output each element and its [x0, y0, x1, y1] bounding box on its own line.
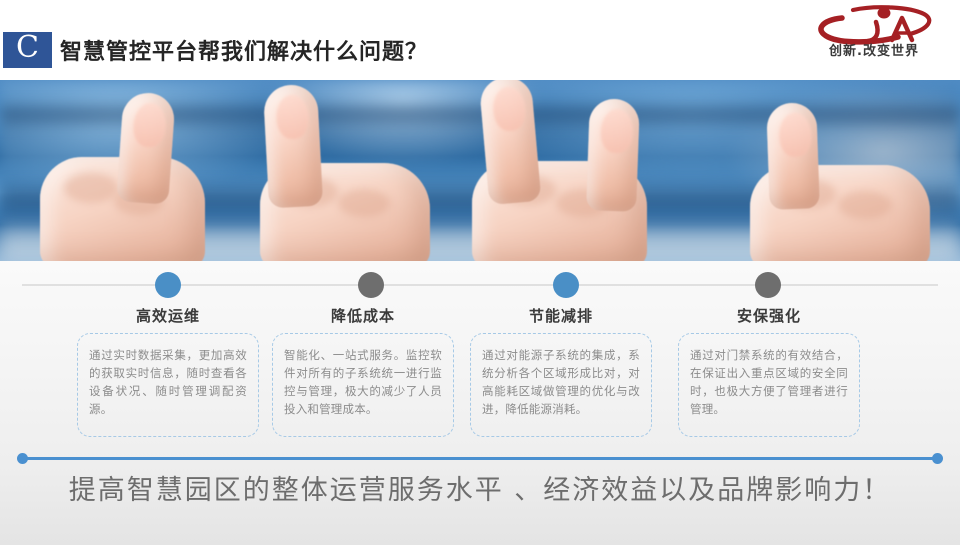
feature-card-2-body: 智能化、一站式服务。监控软件对所有的子系统统一进行监控与管理，极大的减少了人员投…: [272, 333, 454, 437]
footer-tagline: 提高智慧园区的整体运营服务水平 、经济效益以及品牌影响力！: [0, 468, 960, 507]
hand-2: [230, 99, 450, 261]
feature-card-2-title: 降低成本: [272, 305, 454, 326]
feature-card-3[interactable]: 节能减排 通过对能源子系统的集成，系统分析各个区域形成比对，对高能耗区域做管理的…: [470, 305, 652, 437]
feature-card-2[interactable]: 降低成本 智能化、一站式服务。监控软件对所有的子系统统一进行监控与管理，极大的减…: [272, 305, 454, 437]
timeline-marker-3[interactable]: [553, 272, 579, 298]
section-badge: C: [3, 32, 52, 68]
feature-card-1-title: 高效运维: [77, 305, 259, 326]
feature-card-1[interactable]: 高效运维 通过实时数据采集，更加高效的获取实时信息，随时查看各设备状况、随时管理…: [77, 305, 259, 437]
logo-slogan: 创新.改变世界: [804, 40, 944, 59]
hand-4: [720, 104, 950, 261]
feature-card-3-body: 通过对能源子系统的集成，系统分析各个区域形成比对，对高能耗区域做管理的优化与改进…: [470, 333, 652, 437]
feature-card-3-title: 节能减排: [470, 305, 652, 326]
section-badge-letter: C: [16, 33, 39, 63]
hand-3: [460, 94, 690, 261]
footer-rule-cap-left: [17, 453, 28, 464]
feature-card-4-title: 安保强化: [678, 305, 860, 326]
slide-root: C 智慧管控平台帮我们解决什么问题？ 创新.改变世界: [0, 0, 960, 545]
hand-1: [30, 109, 230, 261]
footer-rule-cap-right: [932, 453, 943, 464]
company-logo: 创新.改变世界: [798, 4, 946, 66]
feature-card-4-body: 通过对门禁系统的有效结合，在保证出入重点区域的安全同时，也极大方便了管理者进行管…: [678, 333, 860, 437]
feature-card-1-body: 通过实时数据采集，更加高效的获取实时信息，随时查看各设备状况、随时管理调配资源。: [77, 333, 259, 437]
thumbs-up-photo: [0, 80, 960, 261]
timeline-marker-1[interactable]: [155, 272, 181, 298]
slide-header: C 智慧管控平台帮我们解决什么问题？ 创新.改变世界: [0, 0, 960, 80]
timeline-marker-2[interactable]: [358, 272, 384, 298]
footer-rule: [22, 457, 938, 460]
page-title: 智慧管控平台帮我们解决什么问题？: [60, 34, 428, 66]
feature-card-4[interactable]: 安保强化 通过对门禁系统的有效结合，在保证出入重点区域的安全同时，也极大方便了管…: [678, 305, 860, 437]
timeline-marker-4[interactable]: [755, 272, 781, 298]
